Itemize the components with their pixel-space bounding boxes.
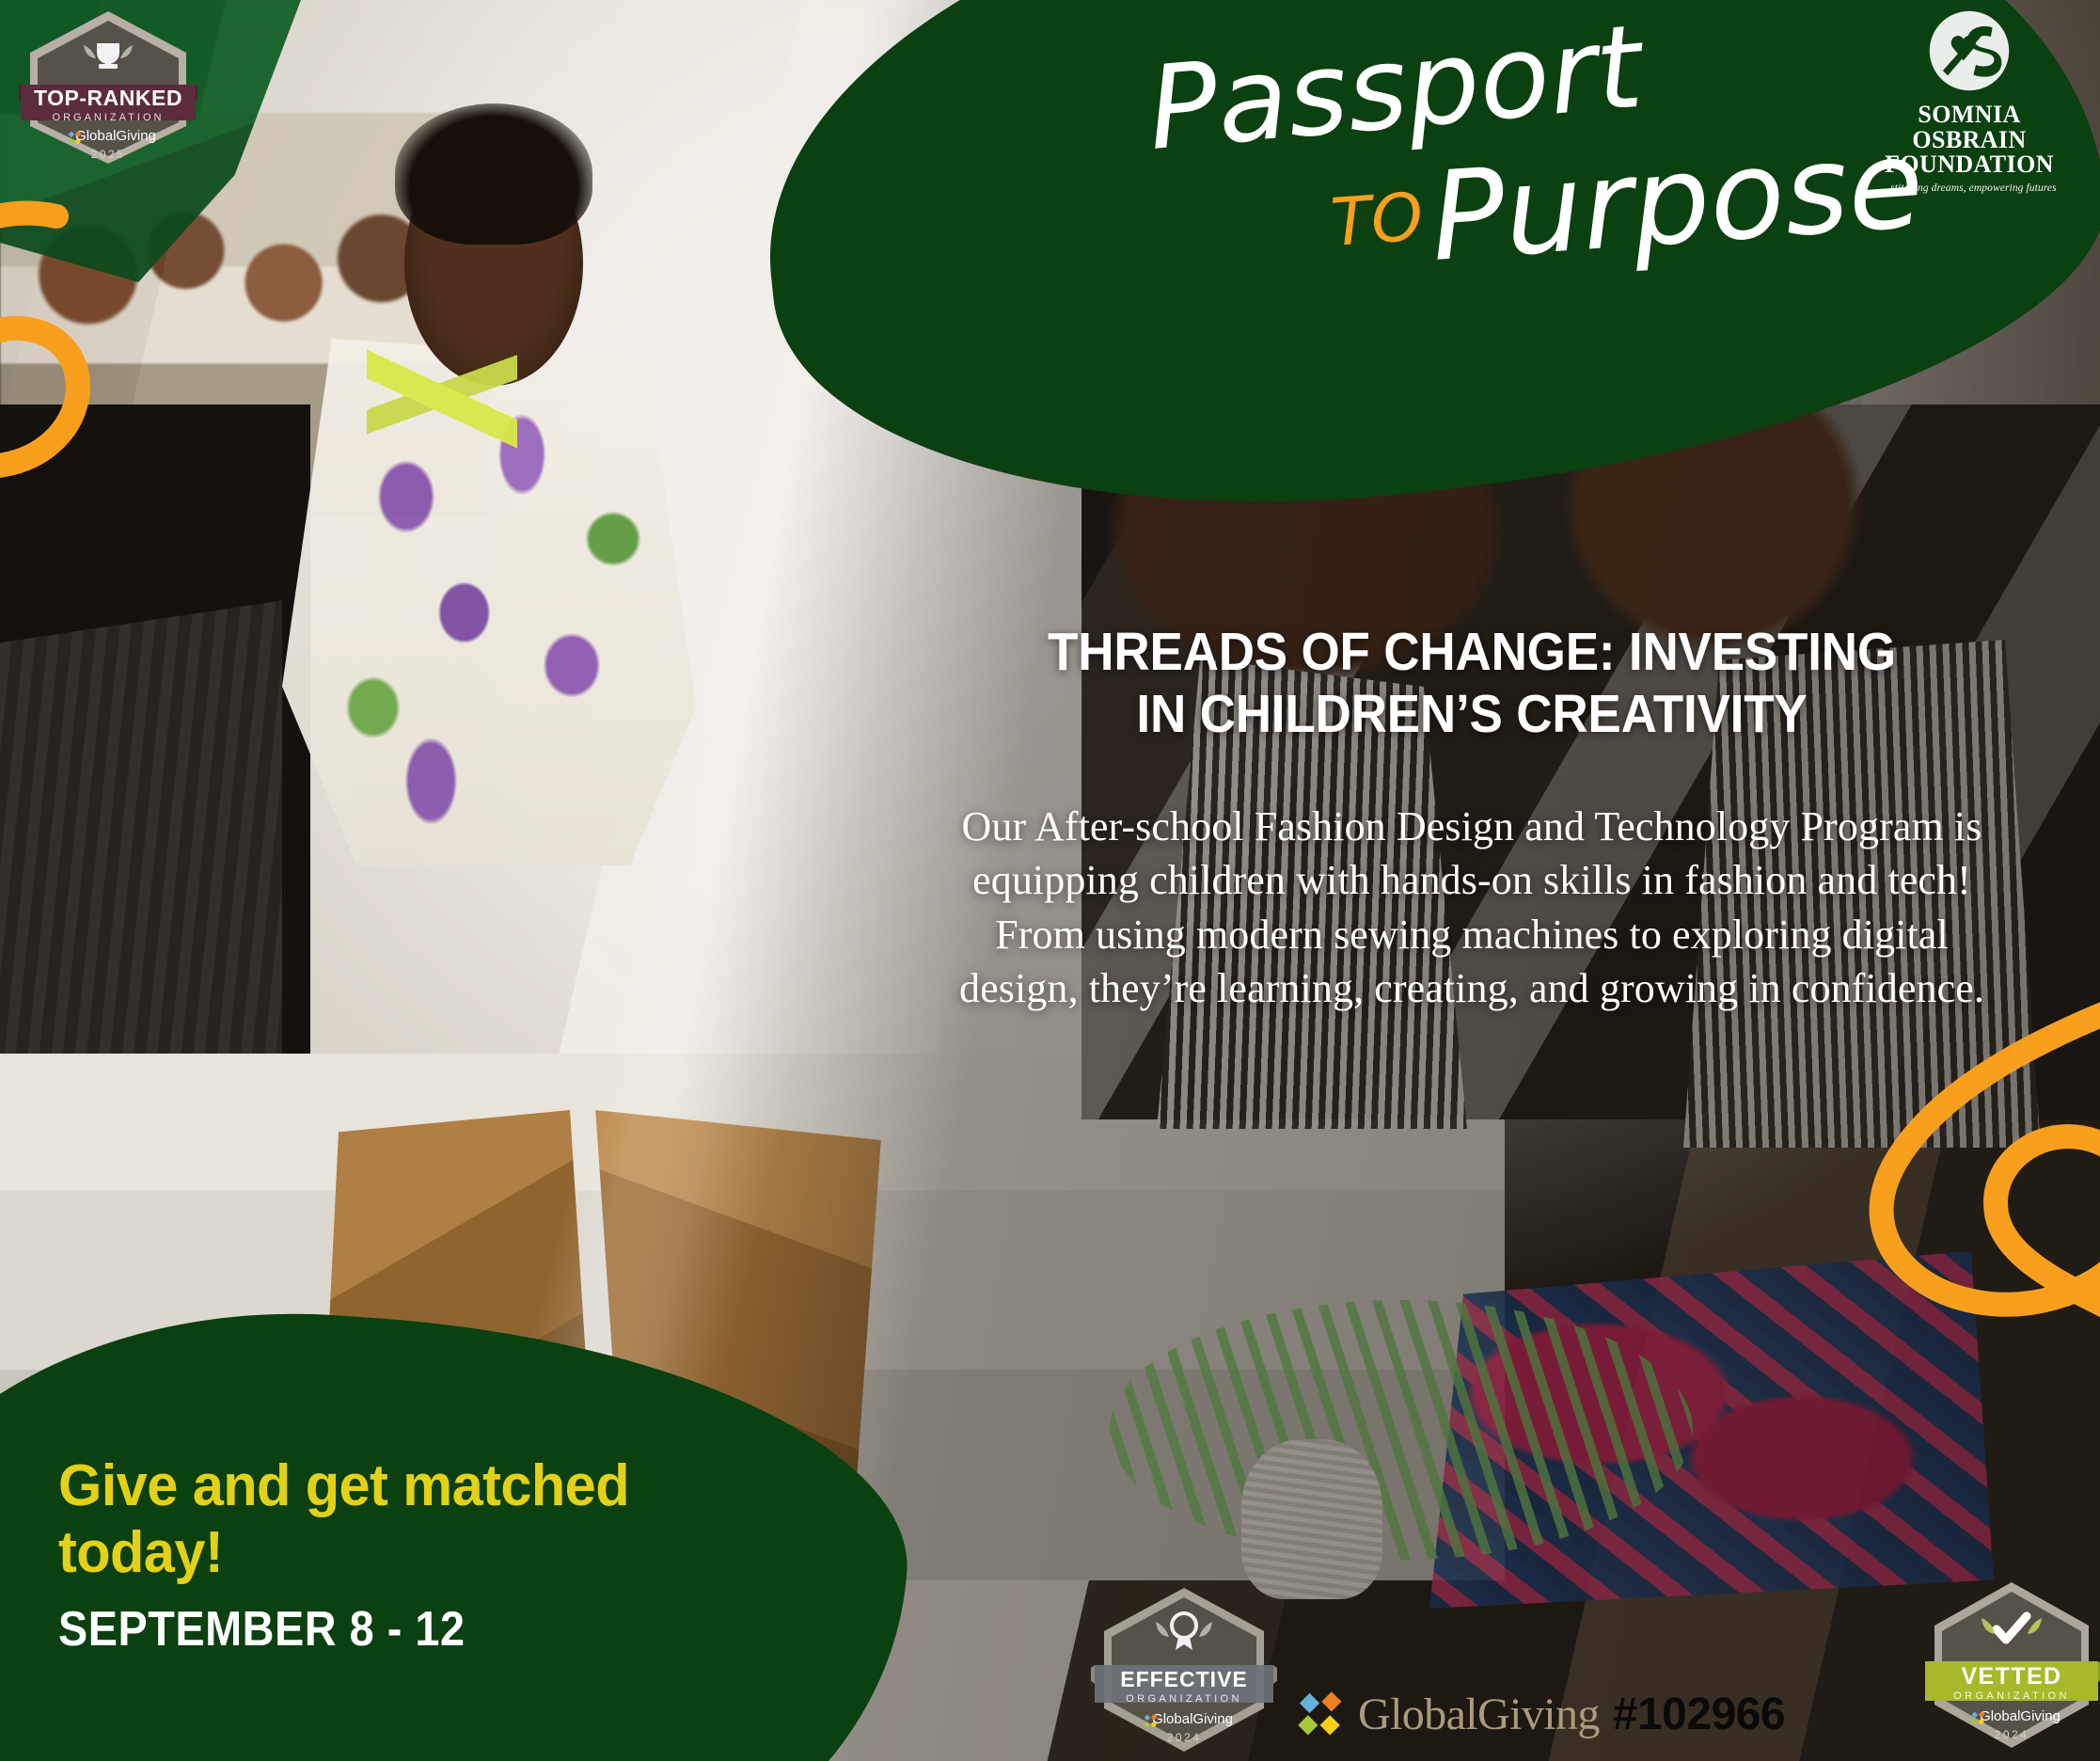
badge-year-top-ranked: 2025 [91,148,126,161]
globalgiving-wordmark-block: GlobalGiving #102966 [1298,1689,1785,1740]
badge-vetted: VETTED ORGANIZATION GlobalGiving 2024 [1923,1575,2100,1759]
badge-subtitle-vetted: ORGANIZATION [1953,1690,2070,1702]
script-word-to: TO [1328,178,1425,262]
foundation-tagline: ...stitching dreams, empowering futures [1871,182,2068,194]
badge-subtitle-top-ranked: ORGANIZATION [53,112,165,123]
main-copy-block: THREADS OF CHANGE: INVESTING IN CHILDREN… [959,621,1984,1015]
badge-year-effective: 2024 [1167,1731,1202,1744]
headline-line-2: IN CHILDREN’S CREATIVITY [1136,684,1807,744]
call-to-action-block: Give and get matched today! SEPTEMBER 8 … [58,1452,773,1658]
globalgiving-puzzle-icon [1298,1691,1345,1738]
badge-title-top-ranked: TOP-RANKED [34,86,182,110]
body-paragraph: Our After-school Fashion Design and Tech… [959,800,1984,1015]
foundation-name-line1: SOMNIA OSBRAIN [1871,103,2068,152]
somnia-osbrain-circle-logo-icon [1928,9,2011,92]
badge-brand-effective: GlobalGiving [1152,1711,1233,1727]
badge-title-effective: EFFECTIVE [1120,1667,1248,1691]
cta-dates: SEPTEMBER 8 - 12 [58,1601,702,1658]
globalgiving-project-number: #102966 [1613,1689,1785,1740]
badge-top-ranked: TOP-RANKED ORGANIZATION GlobalGiving 202… [19,8,197,167]
badge-year-vetted: 2024 [1995,1728,2029,1741]
passport-to-purpose-script: Passport TO Purpose [1124,8,1933,280]
badge-effective: EFFECTIVE ORGANIZATION GlobalGiving 2024 [1091,1582,1277,1761]
globalgiving-wordmark: GlobalGiving [1358,1689,1600,1740]
badge-brand-top-ranked: GlobalGiving [75,128,156,144]
page-title: THREADS OF CHANGE: INVESTING IN CHILDREN… [995,621,1949,745]
promotional-poster: Passport TO Purpose SOMNIA OSBRAIN FOUND… [0,0,2100,1761]
foundation-name-line2: FOUNDATION [1871,152,2068,178]
foundation-logo-block: SOMNIA OSBRAIN FOUNDATION ...stitching d… [1871,9,2068,194]
badge-title-vetted: VETTED [1961,1663,2061,1690]
badge-subtitle-effective: ORGANIZATION [1126,1693,1242,1705]
badge-brand-vetted: GlobalGiving [1980,1708,2061,1724]
headline-line-1: THREADS OF CHANGE: INVESTING [1048,622,1896,682]
cta-headline: Give and get matched today! [58,1452,745,1586]
